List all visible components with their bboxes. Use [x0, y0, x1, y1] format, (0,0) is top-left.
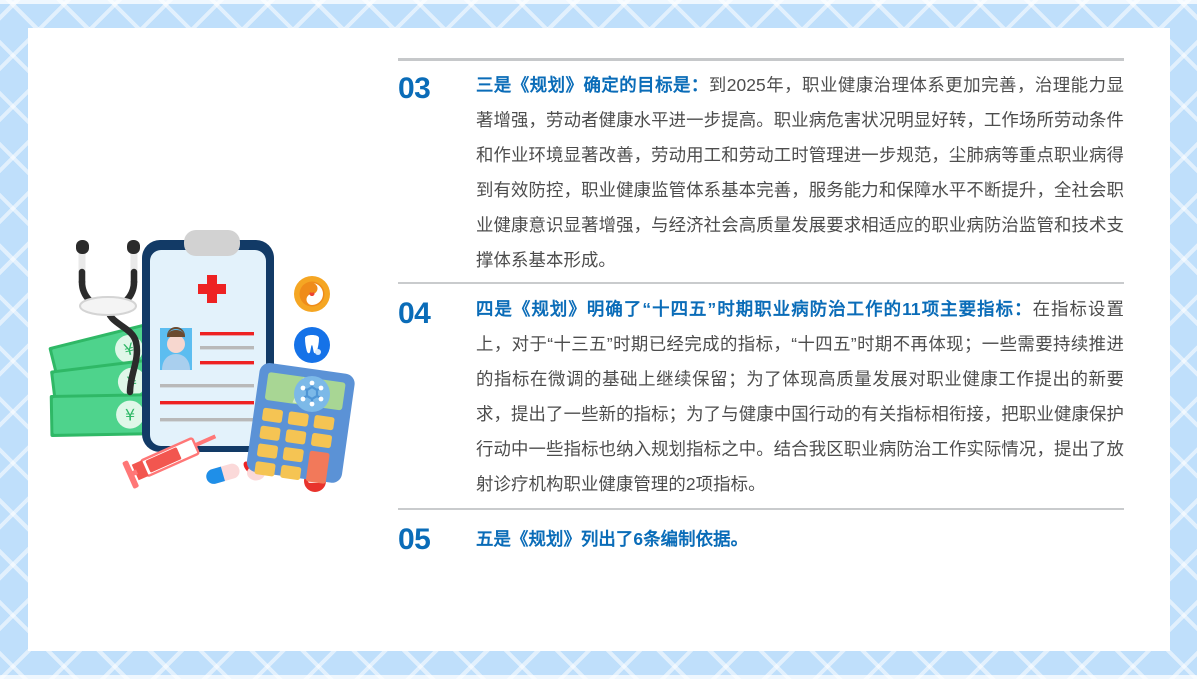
icon-tooth-circle: [294, 327, 330, 363]
section-number-03: 03: [398, 61, 476, 105]
section-number-04: 04: [398, 284, 476, 330]
section-lead-04: 四是《规划》明确了“十四五”时期职业病防治工作的11项主要指标：: [476, 299, 1033, 319]
medical-records-illustration: ¥ ¥ ¥: [46, 224, 378, 494]
section-number-05: 05: [398, 510, 476, 556]
icon-flame-circle: [294, 276, 330, 312]
text-pane: 03 三是《规划》确定的目标是：到2025年，职业健康治理体系更加完善，治理能力…: [398, 28, 1170, 651]
svg-text:¥: ¥: [125, 405, 136, 424]
patient-photo: [160, 327, 192, 370]
illustration-pane: ¥ ¥ ¥: [28, 28, 398, 651]
section-05: 05 五是《规划》列出了6条编制依据。: [398, 510, 1124, 571]
section-04: 04 四是《规划》明确了“十四五”时期职业病防治工作的11项主要指标：在指标设置…: [398, 284, 1124, 508]
section-body-03: 三是《规划》确定的目标是：到2025年，职业健康治理体系更加完善，治理能力显著增…: [476, 61, 1124, 282]
section-03: 03 三是《规划》确定的目标是：到2025年，职业健康治理体系更加完善，治理能力…: [398, 61, 1124, 282]
frame-bottom-highlight: [0, 675, 1197, 679]
section-lead-05: 五是《规划》列出了6条编制依据。: [476, 529, 748, 549]
content-card: ¥ ¥ ¥: [28, 28, 1170, 651]
section-body-05: 五是《规划》列出了6条编制依据。: [476, 510, 1124, 571]
icon-molecule-circle: [294, 376, 330, 412]
section-text-04: 在指标设置上，对于“十三五”时期已经完成的指标，“十四五”时期不再体现；一些需要…: [476, 299, 1124, 494]
section-lead-03: 三是《规划》确定的目标是：: [476, 75, 709, 95]
section-text-03: 到2025年，职业健康治理体系更加完善，治理能力显著增强，劳动者健康水平进一步提…: [476, 75, 1124, 270]
frame-top-highlight: [0, 0, 1197, 4]
section-body-04: 四是《规划》明确了“十四五”时期职业病防治工作的11项主要指标：在指标设置上，对…: [476, 284, 1124, 508]
